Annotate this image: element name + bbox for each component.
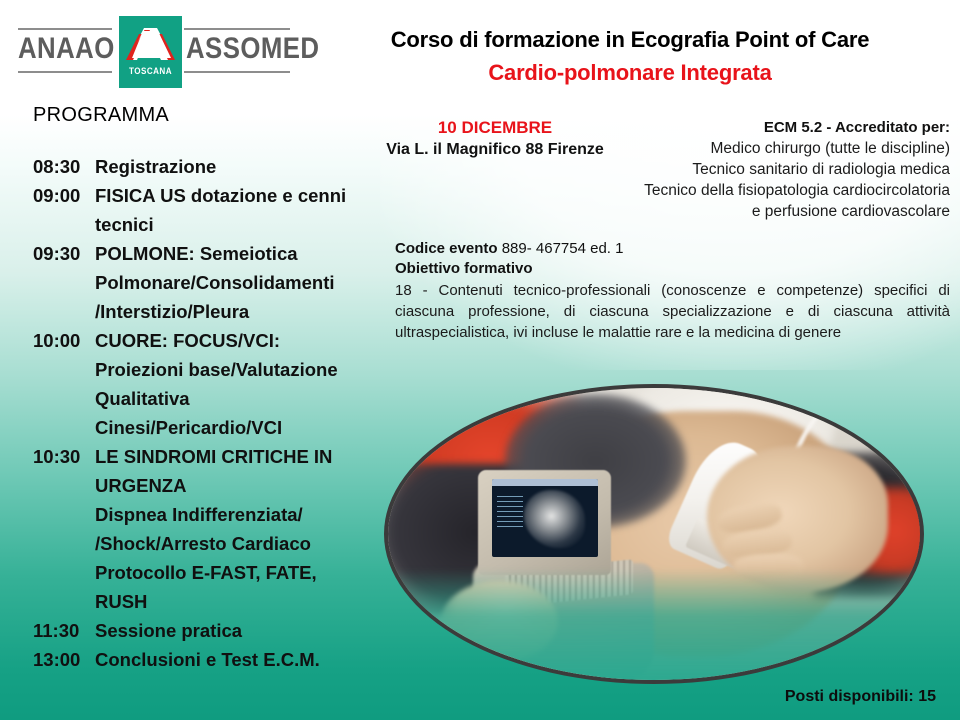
photo-scene <box>388 388 920 680</box>
ultrasound-screen-readout <box>497 496 523 529</box>
schedule-subline: Qualitativa <box>95 384 388 413</box>
schedule-title: FISICA US dotazione e cenni <box>95 181 388 210</box>
logo-badge <box>119 16 182 88</box>
schedule-subline: Protocollo E-FAST, FATE, <box>95 558 388 587</box>
schedule-subline: /Interstizio/Pleura <box>95 297 388 326</box>
obiettivo-label: Obiettivo formativo <box>395 259 950 279</box>
logo-rule-left-bottom <box>18 71 112 73</box>
schedule-title: Conclusioni e Test E.C.M. <box>95 645 388 674</box>
schedule-title: LE SINDROMI CRITICHE IN <box>95 442 388 471</box>
schedule-title: Sessione pratica <box>95 616 388 645</box>
schedule-title: CUORE: FOCUS/VCI: <box>95 326 388 355</box>
schedule-subline: /Shock/Arresto Cardiaco <box>95 529 388 558</box>
logo-mountain-icon <box>119 16 182 88</box>
available-seats: Posti disponibili: 15 <box>785 688 936 706</box>
schedule-title: Registrazione <box>95 152 388 181</box>
ecm-profession: Tecnico della fisiopatologia cardiocirco… <box>550 180 950 201</box>
schedule-subline: Dispnea Indifferenziata/ <box>95 500 388 529</box>
schedule-time: 13:00 <box>33 645 95 674</box>
schedule-time: 10:00 <box>33 326 95 355</box>
ultrasound-screen <box>492 479 598 558</box>
schedule-item: 09:00 FISICA US dotazione e cenni <box>33 181 388 210</box>
programma-heading: PROGRAMMA <box>33 104 169 127</box>
ecm-accreditation-block: ECM 5.2 - Accreditato per: Medico chirur… <box>550 117 950 222</box>
event-code-line: Codice evento 889- 467754 ed. 1 <box>395 239 950 259</box>
schedule-subline: tecnici <box>95 210 388 239</box>
schedule-subline: RUSH <box>95 587 388 616</box>
ecm-title: ECM 5.2 - Accreditato per: <box>550 117 950 138</box>
schedule-subline: Polmonare/Consolidamenti <box>95 268 388 297</box>
schedule-item: 11:30 Sessione pratica <box>33 616 388 645</box>
schedule-item: 09:30 POLMONE: Semeiotica <box>33 239 388 268</box>
schedule-list: 08:30 Registrazione 09:00 FISICA US dota… <box>33 152 388 674</box>
ecm-profession: e perfusione cardiovascolare <box>550 201 950 222</box>
event-details-block: Codice evento 889- 467754 ed. 1 Obiettiv… <box>395 239 950 343</box>
schedule-time: 11:30 <box>33 616 95 645</box>
event-code-value: 889- 467754 ed. 1 <box>502 240 624 257</box>
schedule-item: 08:30 Registrazione <box>33 152 388 181</box>
anaao-assomed-logo: ANAAO ASSOMED TOSCANA <box>16 14 291 90</box>
schedule-subline: Proiezioni base/Valutazione <box>95 355 388 384</box>
logo-rule-right-top <box>184 28 290 30</box>
logo-rule-left-top <box>18 28 112 30</box>
schedule-time: 09:30 <box>33 239 95 268</box>
ecm-profession: Medico chirurgo (tutte le discipline) <box>550 138 950 159</box>
schedule-item: 10:00 CUORE: FOCUS/VCI: <box>33 326 388 355</box>
schedule-time: 10:30 <box>33 442 95 471</box>
ultrasound-screen-titlebar <box>492 479 598 487</box>
schedule-title: POLMONE: Semeiotica <box>95 239 388 268</box>
schedule-time: 08:30 <box>33 152 95 181</box>
page-subtitle: Cardio-polmonare Integrata <box>300 60 960 86</box>
poster-root: ANAAO ASSOMED TOSCANA Corso di formazion… <box>0 0 960 720</box>
ultrasound-photo <box>384 384 924 684</box>
schedule-subline: URGENZA <box>95 471 388 500</box>
obiettivo-text: 18 - Contenuti tecnico-professionali (co… <box>395 280 950 343</box>
logo-rule-right-bottom <box>184 71 290 73</box>
ultrasound-heart-image <box>524 490 586 548</box>
schedule-time: 09:00 <box>33 181 95 210</box>
schedule-subline: Cinesi/Pericardio/VCI <box>95 413 388 442</box>
photo-layer-teal-fade <box>388 569 920 684</box>
logo-badge-label: TOSCANA <box>122 66 179 76</box>
page-title: Corso di formazione in Ecografia Point o… <box>300 27 960 53</box>
event-code-label: Codice evento <box>395 240 498 257</box>
schedule-item: 13:00 Conclusioni e Test E.C.M. <box>33 645 388 674</box>
ecm-profession: Tecnico sanitario di radiologia medica <box>550 159 950 180</box>
logo-word-anaao: ANAAO <box>18 31 115 67</box>
schedule-item: 10:30 LE SINDROMI CRITICHE IN <box>33 442 388 471</box>
